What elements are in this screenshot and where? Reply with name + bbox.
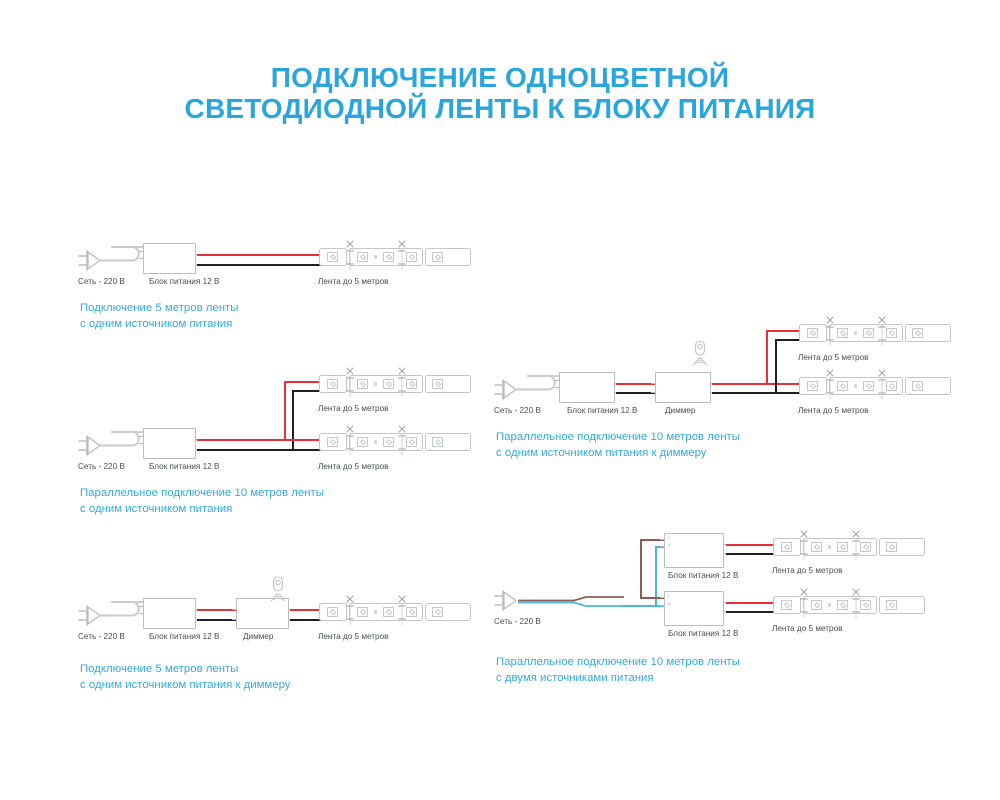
diagram-3-caption: Подключение 5 метров ленты с одним источ… — [80, 662, 291, 693]
diagram-2-caption: Параллельное подключение 10 метров ленты… — [80, 486, 324, 517]
led-chip — [811, 600, 822, 610]
led-chip — [383, 252, 394, 262]
infographic-canvas: ПОДКЛЮЧЕНИЕ ОДНОЦВЕТНОЙ СВЕТОДИОДНОЙ ЛЕН… — [0, 0, 1000, 800]
label-led-strip: Лента до 5 метров — [318, 462, 389, 472]
power-supply-block — [143, 598, 196, 629]
wire-negative — [616, 392, 655, 394]
led-chip — [837, 542, 848, 552]
caption-line-1: Параллельное подключение 10 метров ленты — [496, 655, 740, 671]
led-chip — [886, 328, 897, 338]
wire-negative — [726, 611, 775, 613]
power-supply-block — [559, 372, 615, 403]
led-chip — [886, 381, 897, 391]
led-chip — [432, 437, 443, 447]
led-strip — [773, 530, 925, 562]
scissors-cut-mark-icon — [345, 367, 355, 397]
remote-control-icon — [688, 340, 712, 370]
scissors-cut-mark-icon — [397, 595, 407, 625]
psu-terminal-n — [660, 605, 665, 606]
diagram-1-caption: Подключение 5 метров ленты с одним источ… — [80, 301, 238, 332]
caption-line-2: с одним источником питания — [80, 502, 324, 518]
wire-negative — [290, 619, 321, 621]
led-chip — [383, 379, 394, 389]
led-strip — [319, 425, 471, 457]
wire-positive — [197, 609, 236, 611]
led-chip — [863, 328, 874, 338]
led-chip — [357, 252, 368, 262]
led-chip — [912, 381, 923, 391]
label-power-supply: Блок питания 12 В — [567, 406, 637, 416]
wire-negative — [726, 553, 775, 555]
wire-negative-branch-bottom — [292, 449, 321, 451]
led-chip — [327, 252, 338, 262]
diagram-5-caption: Параллельное подключение 10 метров ленты… — [496, 655, 740, 686]
dimmer-input-plus — [651, 383, 656, 384]
led-chip — [383, 437, 394, 447]
led-chip — [432, 252, 443, 262]
label-dimmer: Диммер — [243, 632, 273, 642]
label-led-strip: Лента до 5 метров — [772, 566, 843, 576]
psu-terminal-n — [660, 546, 665, 547]
scissors-cut-mark-icon — [345, 595, 355, 625]
led-chip — [781, 542, 792, 552]
wire-negative-branch-top — [775, 339, 801, 341]
label-power-supply: Блок питания 12 В — [149, 462, 219, 472]
psu-terminal-l-label: L — [668, 594, 670, 598]
strip-resistor — [854, 331, 857, 335]
remote-control-icon — [266, 576, 290, 606]
wire-positive — [726, 544, 775, 546]
dimmer-block — [655, 372, 711, 403]
scissors-cut-mark-icon — [851, 588, 861, 618]
led-strip — [319, 367, 471, 399]
psu-terminal-n-label: N — [668, 543, 671, 547]
label-led-strip: Лента до 5 метров — [318, 277, 389, 287]
label-mains: Сеть - 220 В — [78, 632, 125, 642]
power-supply-block — [664, 533, 724, 568]
wire-neutral-branch-bottom — [622, 605, 664, 607]
psu-terminal-n — [139, 258, 144, 259]
label-power-supply: Блок питания 12 В — [668, 629, 738, 639]
led-chip — [432, 607, 443, 617]
wire-negative-riser — [292, 390, 294, 451]
scissors-cut-mark-icon — [877, 316, 887, 346]
strip-resistor — [374, 440, 377, 444]
led-chip — [357, 379, 368, 389]
wire-positive-branch-top — [284, 381, 321, 383]
wire-positive — [290, 609, 321, 611]
led-chip — [406, 437, 417, 447]
wire-negative — [197, 264, 321, 266]
scissors-cut-mark-icon — [397, 425, 407, 455]
label-mains: Сеть - 220 В — [78, 277, 125, 287]
psu-terminal-n — [139, 443, 144, 444]
mains-split-cable — [516, 592, 626, 614]
caption-line-2: с одним источником питания — [80, 317, 238, 333]
label-mains: Сеть - 220 В — [494, 617, 541, 627]
led-strip — [799, 369, 951, 401]
led-chip — [383, 607, 394, 617]
led-strip — [799, 316, 951, 348]
led-chip — [327, 379, 338, 389]
wire-negative — [197, 449, 294, 451]
wire-negative-branch-bottom — [775, 392, 801, 394]
led-chip — [912, 328, 923, 338]
led-chip — [781, 600, 792, 610]
led-chip — [807, 381, 818, 391]
scissors-cut-mark-icon — [877, 369, 887, 399]
led-chip — [860, 542, 871, 552]
wire-positive-branch-bottom — [284, 439, 321, 441]
label-mains: Сеть - 220 В — [78, 462, 125, 472]
diagram-5: L N Лента до 5 — [0, 0, 1000, 180]
scissors-cut-mark-icon — [397, 367, 407, 397]
psu-terminal-l — [660, 539, 665, 540]
psu-terminal-l — [555, 380, 560, 381]
led-chip — [406, 607, 417, 617]
scissors-cut-mark-icon — [851, 530, 861, 560]
led-strip — [319, 240, 471, 272]
diagram-4-caption: Параллельное подключение 10 метров ленты… — [496, 430, 740, 461]
strip-resistor — [828, 603, 831, 607]
wire-negative-branch-top — [292, 390, 321, 392]
caption-line-1: Подключение 5 метров ленты — [80, 662, 291, 678]
strip-resistor — [374, 382, 377, 386]
dimmer-input-minus — [232, 619, 237, 620]
wire-positive — [712, 383, 768, 385]
wire-negative-riser — [775, 339, 777, 394]
scissors-cut-mark-icon — [825, 316, 835, 346]
label-led-strip: Лента до 5 метров — [798, 406, 869, 416]
led-chip — [837, 381, 848, 391]
label-led-strip: Лента до 5 метров — [318, 404, 389, 414]
strip-resistor — [374, 610, 377, 614]
led-chip — [807, 328, 818, 338]
led-chip — [860, 600, 871, 610]
led-chip — [811, 542, 822, 552]
strip-resistor — [854, 384, 857, 388]
led-chip — [837, 328, 848, 338]
psu-terminal-n — [555, 387, 560, 388]
caption-line-1: Параллельное подключение 10 метров ленты — [80, 486, 324, 502]
led-chip — [357, 437, 368, 447]
wire-positive — [726, 602, 775, 604]
wire-positive-branch-top — [766, 330, 801, 332]
wire-positive — [197, 254, 321, 256]
dimmer-input-plus — [232, 609, 237, 610]
led-strip — [319, 595, 471, 627]
led-chip — [406, 379, 417, 389]
led-chip — [327, 437, 338, 447]
label-mains: Сеть - 220 В — [494, 406, 541, 416]
scissors-cut-mark-icon — [825, 369, 835, 399]
psu-terminal-l-label: L — [668, 536, 670, 540]
scissors-cut-mark-icon — [345, 240, 355, 270]
wire-negative — [197, 619, 236, 621]
wire-positive-branch-bottom — [766, 383, 801, 385]
led-strip — [773, 588, 925, 620]
wire-positive — [616, 383, 655, 385]
scissors-cut-mark-icon — [397, 240, 407, 270]
led-chip — [406, 252, 417, 262]
label-led-strip: Лента до 5 метров — [318, 632, 389, 642]
dimmer-input-minus — [651, 392, 656, 393]
label-power-supply: Блок питания 12 В — [149, 632, 219, 642]
wire-negative — [712, 392, 777, 394]
psu-terminal-l — [139, 251, 144, 252]
led-chip — [886, 542, 897, 552]
caption-line-1: Параллельное подключение 10 метров ленты — [496, 430, 740, 446]
led-chip — [327, 607, 338, 617]
label-led-strip: Лента до 5 метров — [772, 624, 843, 634]
power-supply-block — [143, 243, 196, 274]
led-chip — [357, 607, 368, 617]
psu-terminal-l — [139, 606, 144, 607]
wire-positive — [197, 439, 286, 441]
caption-line-2: с двумя источниками питания — [496, 671, 740, 687]
wire-positive-riser — [284, 381, 286, 441]
label-power-supply: Блок питания 12 В — [668, 571, 738, 581]
wire-live-riser — [640, 539, 642, 598]
label-led-strip: Лента до 5 метров — [798, 353, 869, 363]
strip-resistor — [828, 545, 831, 549]
scissors-cut-mark-icon — [799, 588, 809, 618]
caption-line-2: с одним источником питания к диммеру — [496, 446, 740, 462]
led-chip — [863, 381, 874, 391]
led-chip — [837, 600, 848, 610]
scissors-cut-mark-icon — [345, 425, 355, 455]
psu-terminal-n-label: N — [668, 602, 671, 606]
caption-line-1: Подключение 5 метров ленты — [80, 301, 238, 317]
label-power-supply: Блок питания 12 В — [149, 277, 219, 287]
label-dimmer: Диммер — [665, 406, 695, 416]
led-chip — [886, 600, 897, 610]
power-supply-block — [143, 428, 196, 459]
psu-terminal-l — [139, 436, 144, 437]
scissors-cut-mark-icon — [799, 530, 809, 560]
wire-positive-riser — [766, 330, 768, 385]
strip-resistor — [374, 255, 377, 259]
psu-terminal-l — [660, 597, 665, 598]
psu-terminal-n — [139, 613, 144, 614]
led-chip — [432, 379, 443, 389]
caption-line-2: с одним источником питания к диммеру — [80, 678, 291, 694]
power-supply-block — [664, 591, 724, 626]
